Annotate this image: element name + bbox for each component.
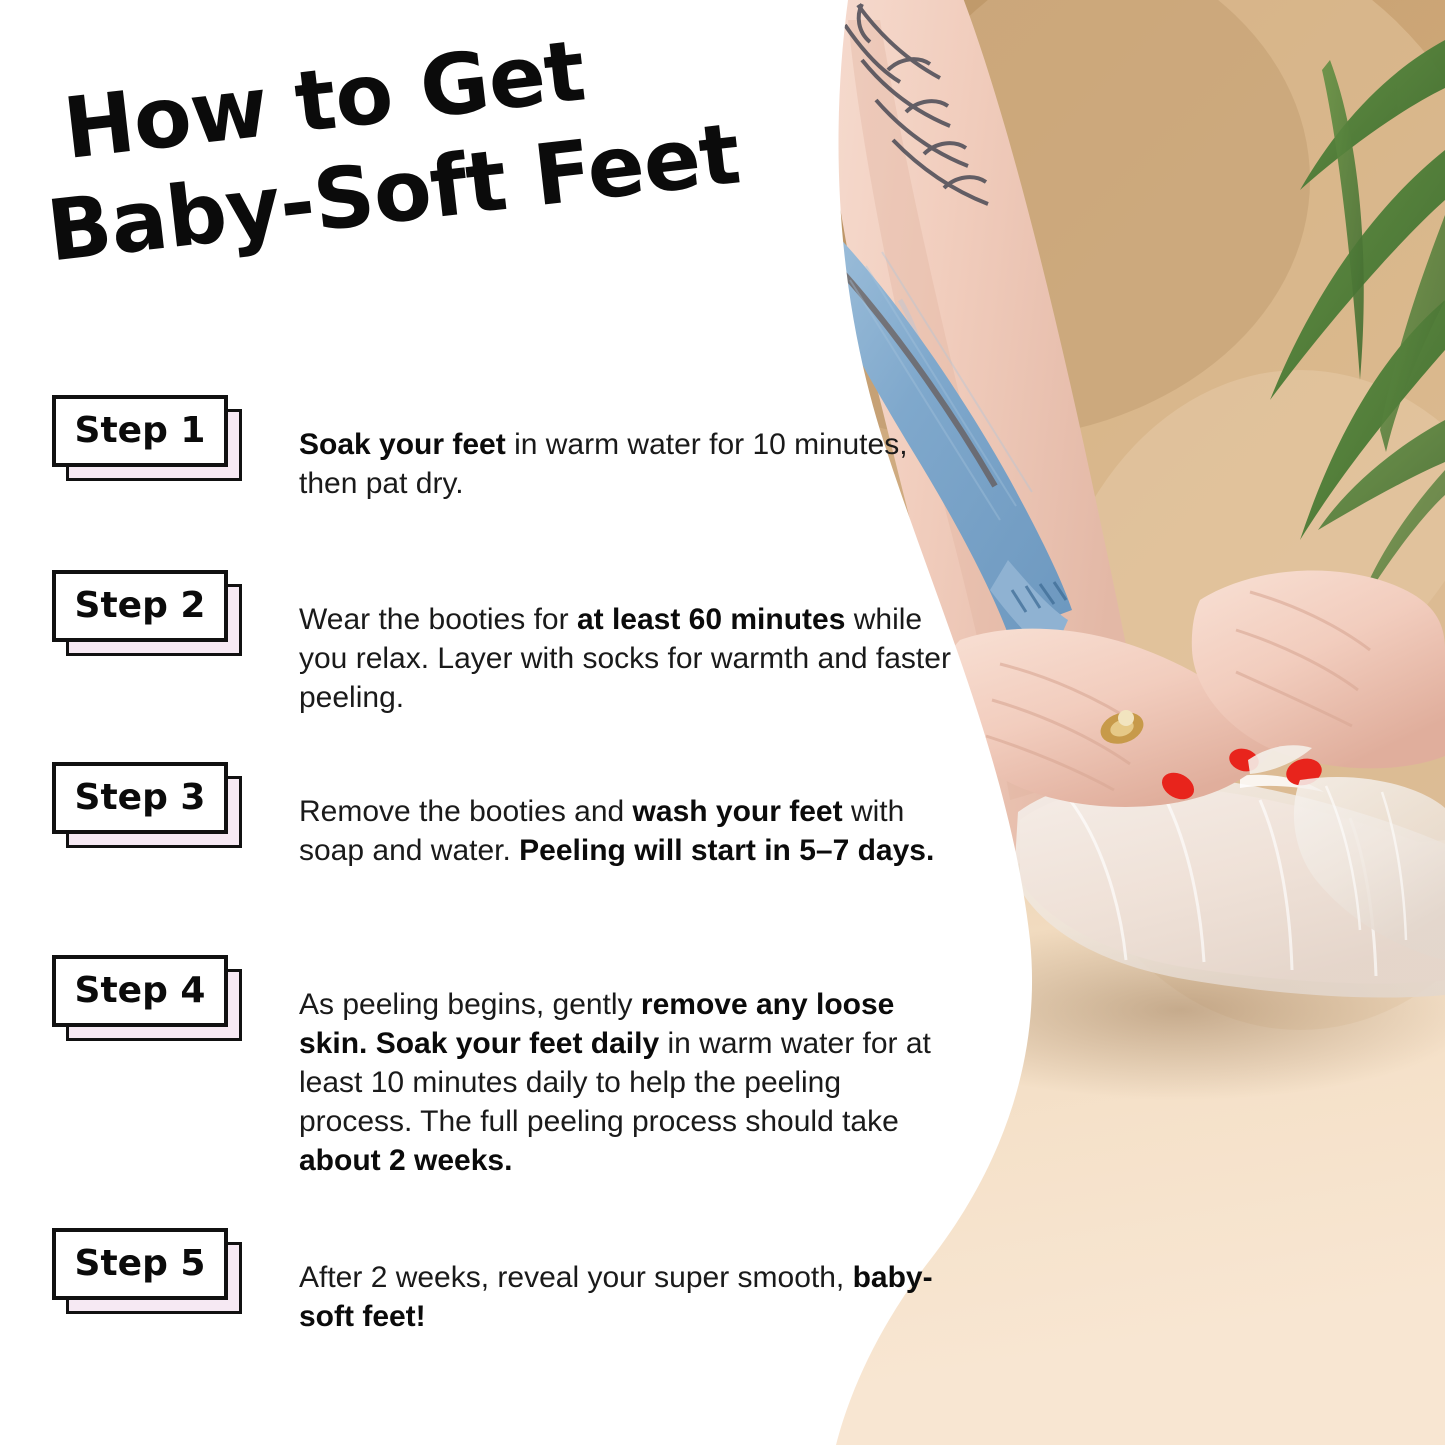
step-badge-5: Step 5 bbox=[52, 1228, 252, 1320]
step-badge-1: Step 1 bbox=[52, 395, 252, 487]
step-badge-face: Step 4 bbox=[52, 955, 228, 1027]
step-text-emphasis: wash your feet bbox=[633, 795, 843, 828]
infographic-canvas: How to Get Baby-Soft Feet Step 1Soak you… bbox=[0, 0, 1445, 1445]
step-badge-2: Step 2 bbox=[52, 570, 252, 662]
step-text-plain: Remove the booties and bbox=[299, 795, 633, 828]
step-description: After 2 weeks, reveal your super smooth,… bbox=[299, 1258, 959, 1336]
step-badge-face: Step 3 bbox=[52, 762, 228, 834]
step-text-emphasis: at least 60 minutes bbox=[577, 603, 845, 636]
step-badge-4: Step 4 bbox=[52, 955, 252, 1047]
step-text-plain: Wear the booties for bbox=[299, 603, 577, 636]
step-text-plain: As peeling begins, gently bbox=[299, 988, 641, 1021]
step-text-plain: After 2 weeks, reveal your super smooth, bbox=[299, 1261, 853, 1294]
step-badge-label: Step 3 bbox=[75, 780, 206, 816]
step-text-emphasis: about 2 weeks. bbox=[299, 1144, 512, 1177]
step-badge-label: Step 1 bbox=[75, 413, 206, 449]
step-badge-label: Step 2 bbox=[75, 588, 206, 624]
step-badge-label: Step 5 bbox=[75, 1246, 206, 1282]
step-text-emphasis: Soak your feet bbox=[299, 428, 506, 461]
step-description: Wear the booties for at least 60 minutes… bbox=[299, 600, 959, 717]
step-description: As peeling begins, gently remove any loo… bbox=[299, 985, 959, 1180]
step-badge-face: Step 1 bbox=[52, 395, 228, 467]
step-description: Remove the booties and wash your feet wi… bbox=[299, 792, 959, 870]
step-description: Soak your feet in warm water for 10 minu… bbox=[299, 425, 959, 503]
step-badge-face: Step 2 bbox=[52, 570, 228, 642]
step-badge-label: Step 4 bbox=[75, 973, 206, 1009]
step-badge-face: Step 5 bbox=[52, 1228, 228, 1300]
step-badge-3: Step 3 bbox=[52, 762, 252, 854]
step-text-emphasis: Peeling will start in 5–7 days. bbox=[519, 834, 934, 867]
